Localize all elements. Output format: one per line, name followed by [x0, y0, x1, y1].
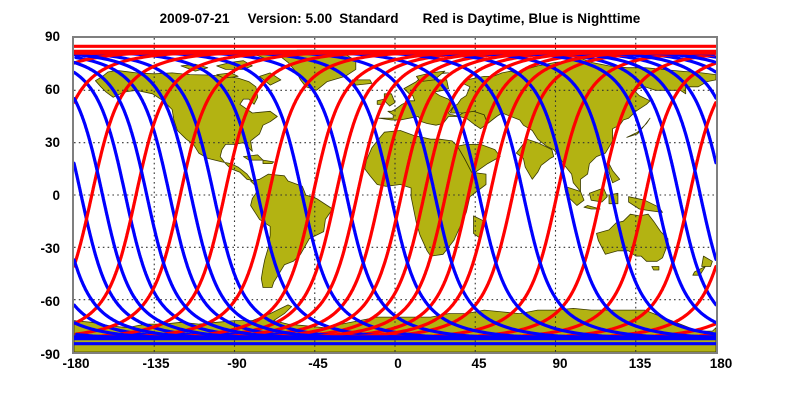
y-axis-label-0: 0: [4, 188, 60, 203]
x-axis-label-m180: -180: [46, 356, 106, 371]
title-version: Version: 5.00: [248, 11, 333, 26]
world-map-svg: [74, 38, 716, 352]
x-axis-label-45: 45: [449, 356, 509, 371]
y-axis-label-m30: -30: [4, 241, 60, 256]
title-standard: Standard: [339, 11, 398, 26]
title-date: 2009-07-21: [160, 11, 230, 26]
x-axis-label-180: 180: [691, 356, 751, 371]
x-axis-label-135: 135: [610, 356, 670, 371]
map-plot-area: [72, 36, 718, 354]
satellite-groundtrack-figure: 2009-07-21Version: 5.00StandardRed is Da…: [0, 0, 800, 400]
x-axis-label-0: 0: [368, 356, 428, 371]
x-axis-label-m90: -90: [207, 356, 267, 371]
x-axis-label-m45: -45: [288, 356, 348, 371]
x-axis-label-m135: -135: [126, 356, 186, 371]
y-axis-label-30: 30: [4, 135, 60, 150]
figure-title: 2009-07-21Version: 5.00StandardRed is Da…: [0, 11, 800, 26]
y-axis-label-60: 60: [4, 82, 60, 97]
x-axis-label-90: 90: [530, 356, 590, 371]
y-axis-label-m60: -60: [4, 294, 60, 309]
y-axis-label-90: 90: [4, 29, 60, 44]
title-legend: Red is Daytime, Blue is Nighttime: [423, 11, 641, 26]
